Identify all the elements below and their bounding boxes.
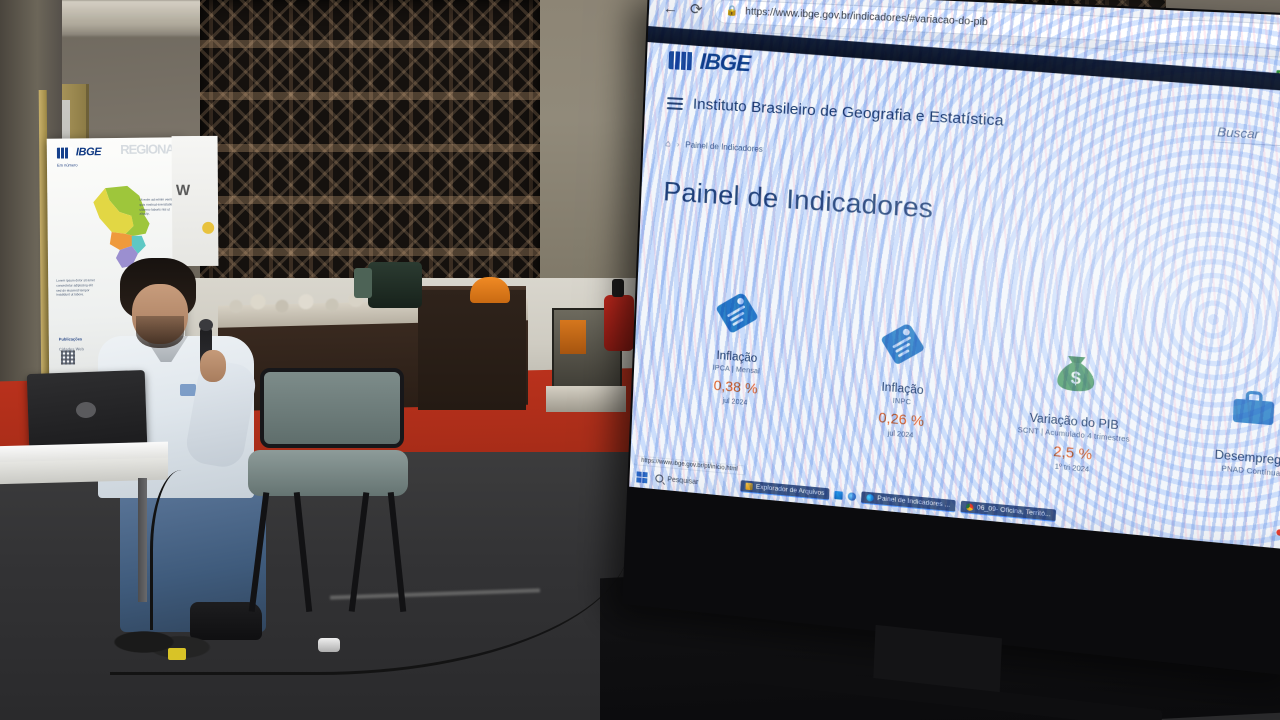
banner-text-left: Lorem ipsum dolor sit amet consectetur a… (56, 278, 98, 298)
ibge-logo-mark-icon (668, 51, 695, 70)
weather-cloud-icon[interactable] (1269, 532, 1280, 542)
indicator-card[interactable]: Inflação IPCA | Mensal 0,38 % jul 2024 (653, 265, 822, 449)
chair-seat (248, 450, 408, 496)
equipment-base (546, 386, 626, 412)
banner-subtitle: Em número (57, 162, 78, 167)
search-icon (655, 474, 663, 483)
presenter-hand (200, 350, 226, 382)
taskbar-item-explorer[interactable]: Explorador de Arquivos (740, 480, 829, 500)
presentation-display: ← ⟳ 🔒 https://www.ibge.gov.br/indicadore… (622, 0, 1280, 677)
site-header-row: Instituto Brasileiro de Geografia e Esta… (667, 93, 1280, 148)
search-input[interactable]: Buscar (1212, 122, 1280, 147)
indicator-card[interactable]: $ Variação do PIB SCNT | Acumulado 4 tri… (986, 326, 1165, 480)
site-title: Instituto Brasileiro de Geografia e Esta… (693, 96, 1004, 130)
indicator-card[interactable]: Desemprego PNAD Contínua (1161, 360, 1280, 496)
taskbar-item-oficina[interactable]: 06_09- Oficina, Territó... (961, 501, 1057, 522)
breadcrumb-current[interactable]: Painel de Indicadores (685, 140, 763, 154)
floor-cable-secondary (150, 470, 213, 630)
orange-hardhat (470, 277, 510, 303)
taskbar-pin-icon-2[interactable] (848, 492, 857, 501)
taskbar-search[interactable]: Pesquisar (655, 474, 698, 486)
cable-connector-end (318, 638, 340, 652)
chrome-icon (966, 503, 974, 511)
back-arrow-icon[interactable]: ← (663, 1, 679, 17)
price-tag-icon (657, 265, 822, 352)
folder-icon (746, 483, 753, 491)
lock-icon: 🔒 (725, 5, 738, 17)
secondary-poster: W (172, 136, 219, 266)
banner-logo: IBGE (57, 146, 101, 158)
laptop (27, 370, 148, 450)
taskbar-item-painel[interactable]: Painel de Indicadores ... (861, 491, 955, 512)
reload-icon[interactable]: ⟳ (690, 2, 703, 18)
cable-coil (96, 616, 216, 668)
taskbar-item-label: Explorador de Arquivos (756, 484, 825, 498)
briefcase-icon (1163, 360, 1280, 453)
poster-logo-text: W (176, 182, 190, 199)
cable-connector-yellow (168, 648, 186, 660)
fire-extinguisher (604, 295, 634, 351)
breadcrumb: ⌂ › Painel de Indicadores (665, 138, 1280, 187)
presenter-beard (136, 316, 184, 348)
chair-backrest (260, 368, 404, 448)
banner-logo-text: IBGE (76, 146, 101, 158)
indicator-cards: Inflação IPCA | Mensal 0,38 % jul 2024 (653, 265, 1280, 493)
banner-footer-1: Publicações (59, 336, 82, 341)
surveying-instrument (368, 262, 422, 308)
taskbar-search-label: Pesquisar (667, 476, 698, 486)
chair-legs (252, 492, 404, 612)
address-bar-url: https://www.ibge.gov.br/indicadores/#var… (745, 6, 988, 28)
taskbar-item-label: 06_09- Oficina, Territó... (977, 504, 1051, 518)
windows-start-icon[interactable] (636, 471, 647, 483)
presenter-badge (180, 384, 196, 396)
page-title: Painel de Indicadores (663, 176, 1280, 250)
edge-icon (867, 494, 875, 502)
dark-desk (418, 290, 526, 410)
hamburger-menu-icon[interactable] (667, 94, 684, 113)
home-icon[interactable]: ⌂ (665, 138, 671, 148)
tv-screen: ← ⟳ 🔒 https://www.ibge.gov.br/indicadore… (629, 0, 1280, 551)
ibge-logo-text: IBGE (699, 49, 750, 78)
chair (246, 368, 414, 618)
taskbar-pin-icon[interactable] (835, 491, 844, 500)
money-bag-icon: $ (989, 326, 1166, 417)
breadcrumb-separator: › (677, 139, 680, 148)
indicator-card[interactable]: Inflação INPC 0,26 % jul 2024 (817, 295, 991, 464)
poster-dot-icon (202, 222, 214, 234)
system-tray: 23° (1269, 532, 1280, 543)
screenshot-scene: REGIONAL IBGE Em número Lorem ipsum dolo… (0, 0, 1280, 720)
taskbar-item-label: Painel de Indicadores ... (877, 495, 950, 509)
ibge-webpage: IBGE Instituto Brasileiro de Geografia e… (629, 30, 1280, 551)
ibge-logo-mark-icon (57, 147, 73, 158)
svg-text:$: $ (1070, 368, 1082, 389)
banner-qr-code-icon (61, 350, 75, 364)
price-tag-icon (820, 295, 991, 384)
lattice-screen-left (200, 0, 540, 300)
